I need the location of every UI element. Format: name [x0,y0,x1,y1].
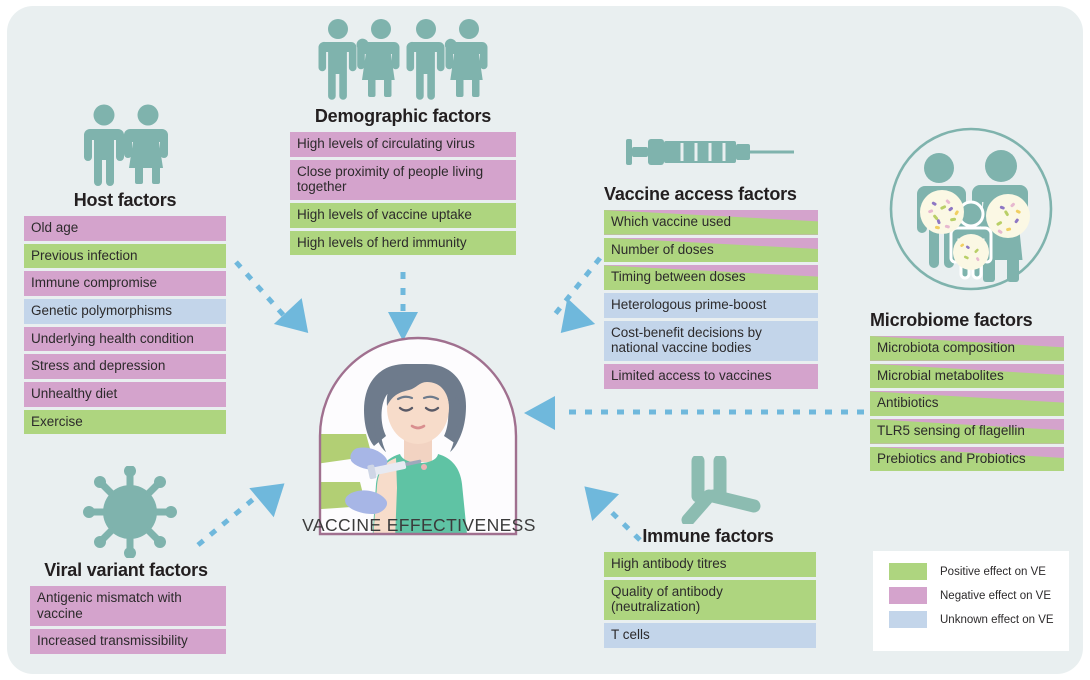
list-item[interactable]: Antigenic mismatch with vaccine [30,586,226,626]
item-label: Previous infection [24,244,226,269]
group-title-host: Host factors [22,190,228,211]
list-item[interactable]: Stress and depression [24,354,226,379]
list-item[interactable]: High antibody titres [604,552,816,577]
group-title-viral-variant: Viral variant factors [20,560,232,581]
legend-swatch-unknown [889,611,927,628]
four-people-icon [318,18,490,100]
legend: Positive effect on VE Negative effect on… [873,551,1069,651]
antibody-icon [658,456,768,524]
list-item[interactable]: Increased transmissibility [30,629,226,654]
item-list-microbiome: Microbiota composition Microbial metabol… [870,336,1064,474]
list-item[interactable]: Old age [24,216,226,241]
item-label: High levels of herd immunity [290,231,516,256]
item-label: Microbiota composition [870,336,1064,361]
item-label: Microbial metabolites [870,364,1064,389]
legend-label: Unknown effect on VE [940,614,1054,626]
list-item[interactable]: Genetic polymorphisms [24,299,226,324]
item-label: Underlying health condition [24,327,226,352]
legend-label: Negative effect on VE [940,590,1051,602]
item-label: Unhealthy diet [24,382,226,407]
item-label: Quality of antibody (neutralization) [604,580,816,620]
item-list-viral-variant: Antigenic mismatch with vaccine Increase… [30,586,226,657]
center-illustration [318,336,518,536]
list-item[interactable]: Which vaccine used [604,210,818,235]
family-microbiome-circle-icon [888,126,1054,292]
group-title-demographic: Demographic factors [290,106,516,127]
list-item[interactable]: Microbiota composition [870,336,1064,361]
list-item[interactable]: Immune compromise [24,271,226,296]
legend-row-unknown: Unknown effect on VE [889,611,1069,628]
item-label: T cells [604,623,816,648]
list-item[interactable]: Antibiotics [870,391,1064,416]
item-label: Which vaccine used [604,210,818,235]
item-label: Exercise [24,410,226,435]
list-item[interactable]: High levels of herd immunity [290,231,516,256]
group-title-microbiome: Microbiome factors [870,310,1032,331]
list-item[interactable]: High levels of vaccine uptake [290,203,516,228]
list-item[interactable]: Unhealthy diet [24,382,226,407]
item-label: Limited access to vaccines [604,364,818,389]
legend-row-positive: Positive effect on VE [889,563,1069,580]
item-label: TLR5 sensing of flagellin [870,419,1064,444]
list-item[interactable]: Prebiotics and Probiotics [870,447,1064,472]
item-label: High levels of vaccine uptake [290,203,516,228]
list-item[interactable]: T cells [604,623,816,648]
item-list-immune: High antibody titres Quality of antibody… [604,552,816,651]
item-label: Timing between doses [604,265,818,290]
item-label: High levels of circulating virus [290,132,516,157]
virus-icon [82,466,178,558]
syringe-icon [626,134,796,180]
list-item[interactable]: Previous infection [24,244,226,269]
item-label: Cost-benefit decisions by national vacci… [604,321,818,361]
item-label: Old age [24,216,226,241]
list-item[interactable]: Timing between doses [604,265,818,290]
legend-label: Positive effect on VE [940,566,1046,578]
list-item[interactable]: Exercise [24,410,226,435]
item-label: Stress and depression [24,354,226,379]
list-item[interactable]: Cost-benefit decisions by national vacci… [604,321,818,361]
legend-row-negative: Negative effect on VE [889,587,1069,604]
item-label: Genetic polymorphisms [24,299,226,324]
item-label: Heterologous prime-boost [604,293,818,318]
item-list-demographic: High levels of circulating virus Close p… [290,132,516,258]
item-label: Immune compromise [24,271,226,296]
list-item[interactable]: Underlying health condition [24,327,226,352]
item-label: Close proximity of people living togethe… [290,160,516,200]
item-label: Number of doses [604,238,818,263]
figure-canvas: Host factors Old age Previous infection … [0,0,1090,680]
legend-swatch-negative [889,587,927,604]
list-item[interactable]: Microbial metabolites [870,364,1064,389]
list-item[interactable]: High levels of circulating virus [290,132,516,157]
item-label: Antibiotics [870,391,1064,416]
item-label: Prebiotics and Probiotics [870,447,1064,472]
item-list-host: Old age Previous infection Immune compro… [24,216,226,437]
list-item[interactable]: Heterologous prime-boost [604,293,818,318]
item-label: Increased transmissibility [30,629,226,654]
list-item[interactable]: Close proximity of people living togethe… [290,160,516,200]
list-item[interactable]: Limited access to vaccines [604,364,818,389]
group-title-vaccine-access: Vaccine access factors [604,184,797,205]
two-people-icon [72,104,182,186]
item-label: High antibody titres [604,552,816,577]
list-item[interactable]: Quality of antibody (neutralization) [604,580,816,620]
item-list-vaccine-access: Which vaccine used Number of doses Timin… [604,210,818,392]
group-title-immune: Immune factors [600,526,816,547]
legend-swatch-positive [889,563,927,580]
item-label: Antigenic mismatch with vaccine [30,586,226,626]
center-label: VACCINE EFFECTIVENESS [296,515,542,536]
list-item[interactable]: Number of doses [604,238,818,263]
list-item[interactable]: TLR5 sensing of flagellin [870,419,1064,444]
